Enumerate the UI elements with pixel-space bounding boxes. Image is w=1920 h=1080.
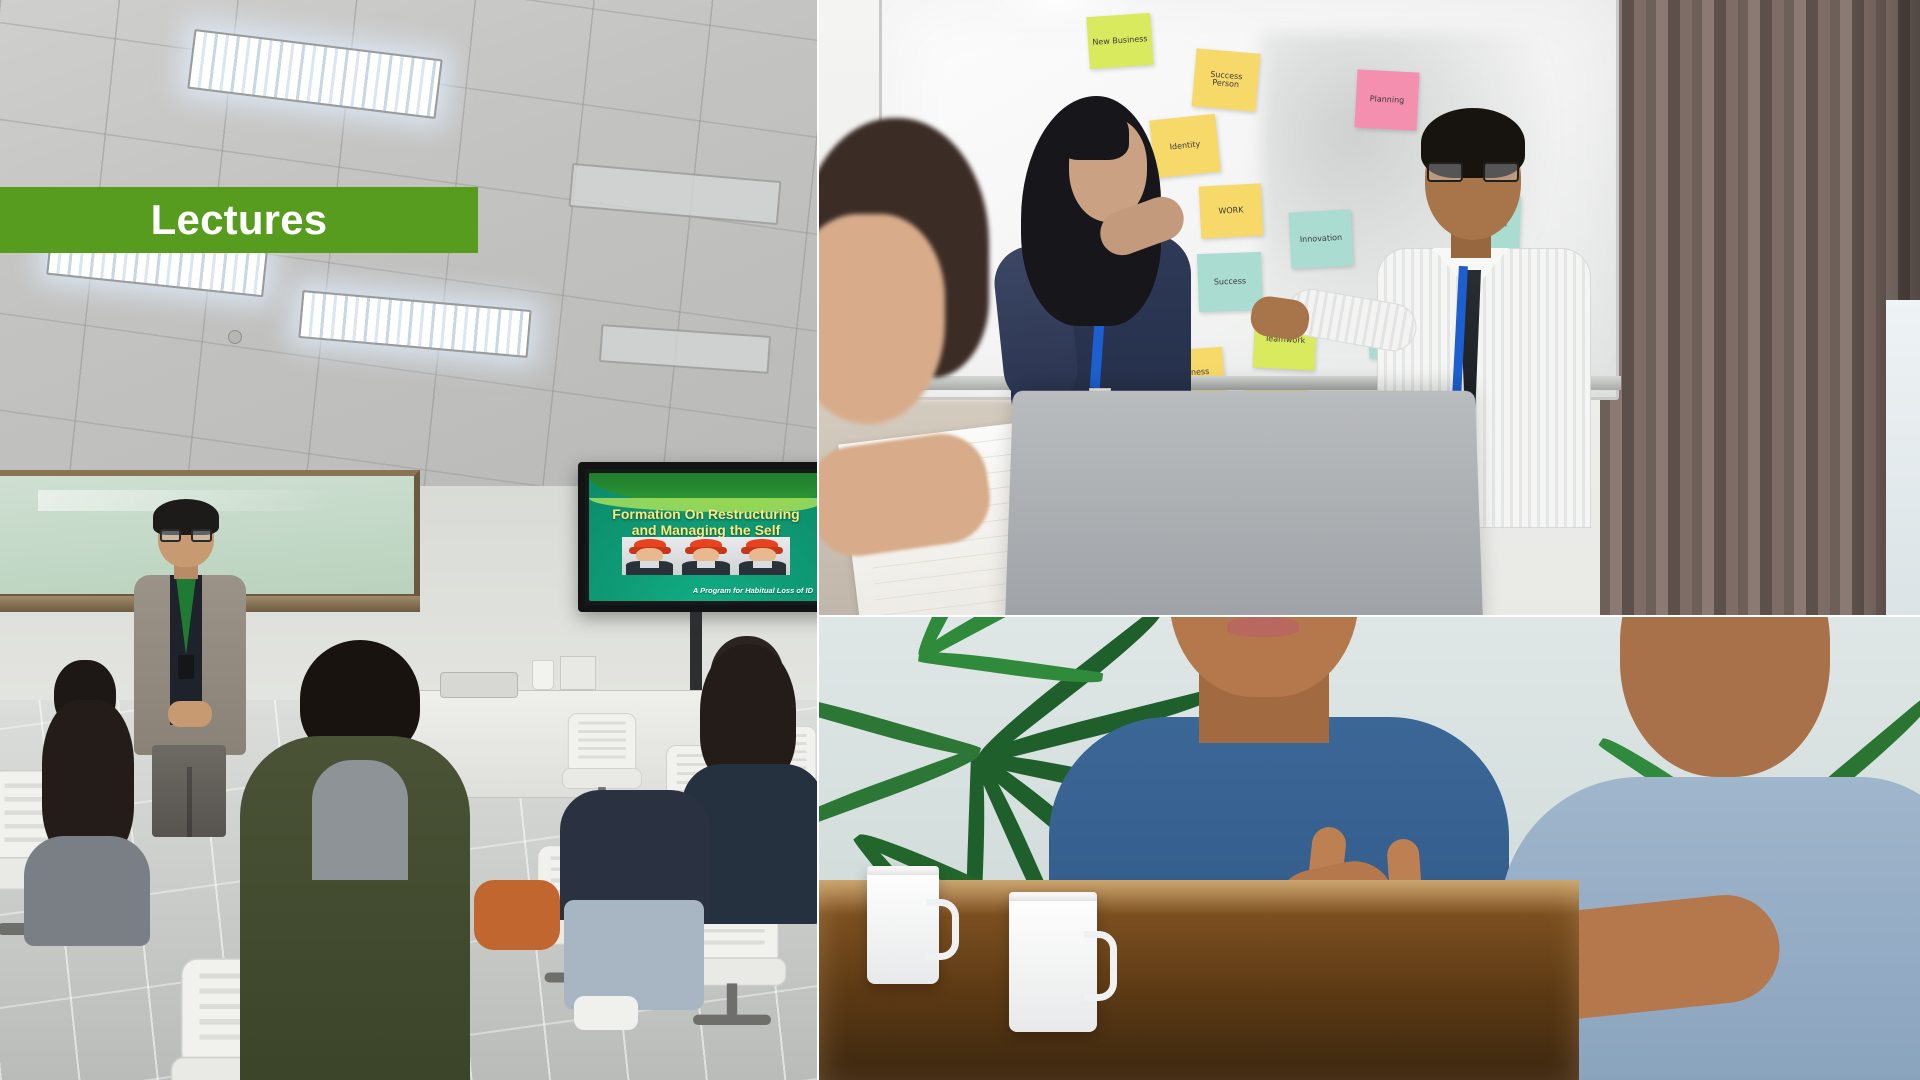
sticky-note: New Business [1086,13,1153,69]
coffee-mug [867,866,939,984]
slide-figure [622,537,678,575]
ceiling [0,0,817,508]
slide: Formation On Restructuring and Managing … [589,473,817,601]
slide-title-line-2: and Managing the Self [632,522,781,538]
clasped-hands [168,701,212,727]
student-bag [474,840,594,970]
slide-title: Formation On Restructuring and Managing … [595,506,817,538]
workshop-photo: New Business Identity Success Person Pla… [819,0,1920,615]
laptop [1005,391,1484,615]
hair-front [1057,104,1129,160]
id-badge [178,655,194,679]
torso-shape [739,561,786,576]
slide-figure [734,537,790,575]
panel-personal-mentoring: Personal Mentoring [819,617,1920,1080]
trousers [152,745,226,837]
box [560,656,596,690]
label-lectures: Lectures [0,187,478,253]
coffee-mug [1009,892,1097,1032]
slide-header-graphic [589,473,817,506]
slide-title-line-1: Formation On Restructuring [612,506,799,522]
head [819,214,945,424]
torso-shape [682,561,729,576]
slide-image [622,537,790,575]
lecture-hall-photo: Formation On Restructuring and Managing … [0,0,817,1080]
sticky-note: Innovation [1289,209,1354,268]
student [18,660,148,920]
lanyard [176,577,196,655]
slide-figure [678,537,734,575]
mug-rim [867,866,939,875]
mouth [1227,617,1299,637]
mentoring-photo [819,617,1920,1080]
student [240,640,470,1080]
mug-rim [1009,892,1097,901]
smoke-detector-icon [228,330,242,344]
head [1620,617,1830,777]
window-curtain [1600,0,1920,615]
cup [532,660,554,690]
panel-lectures: Formation On Restructuring and Managing … [0,0,817,1080]
panel-formation-activities: New Business Identity Success Person Pla… [819,0,1920,615]
photo-collage: Formation On Restructuring and Managing … [0,0,1920,1080]
label-lectures-text: Lectures [151,196,328,244]
slide-subtitle: A Program for Habitual Loss of ID [589,586,813,595]
torso-shape [626,561,673,576]
presentation-screen: Formation On Restructuring and Managing … [578,462,817,612]
window [1886,300,1920,615]
eyeglasses-icon [1427,162,1519,182]
eyeglasses-icon [160,529,212,542]
